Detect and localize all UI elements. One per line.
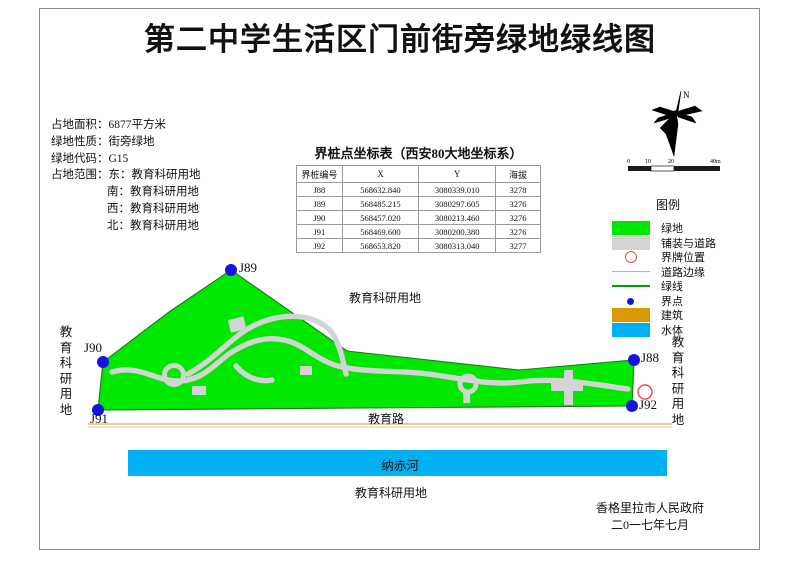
boundary-point-label-j91: J91 — [90, 411, 108, 427]
boundary-point-label-j90: J90 — [84, 340, 102, 356]
boundary-point-j88[interactable] — [628, 354, 640, 366]
land-use-label-north: 教育科研用地 — [349, 289, 421, 306]
footer-block: 香格里拉市人民政府 二0一七年七月 — [560, 500, 740, 534]
issuing-authority: 香格里拉市人民政府 — [560, 500, 740, 517]
boundary-point-j92[interactable] — [626, 400, 638, 412]
paving-pad-center — [300, 366, 312, 375]
land-use-label-south: 教育科研用地 — [355, 484, 427, 501]
issue-date: 二0一七年七月 — [560, 517, 740, 534]
boundary-point-j90[interactable] — [97, 356, 109, 368]
paving-stub-east — [463, 390, 470, 403]
road-name-label: 教育路 — [368, 410, 404, 427]
boundary-point-label-j92: J92 — [639, 397, 657, 413]
map-drawing — [0, 0, 800, 565]
paving-pad-south — [192, 386, 206, 395]
land-use-label-east: 教育科研用地 — [670, 335, 686, 428]
boundary-point-j89[interactable] — [225, 264, 237, 276]
paving-crossbar-east — [551, 382, 583, 391]
boundary-point-label-j89: J89 — [239, 260, 257, 276]
land-use-label-west: 教育科研用地 — [58, 325, 74, 418]
boundary-point-label-j88: J88 — [641, 350, 659, 366]
river-name-label: 纳赤河 — [0, 455, 800, 474]
